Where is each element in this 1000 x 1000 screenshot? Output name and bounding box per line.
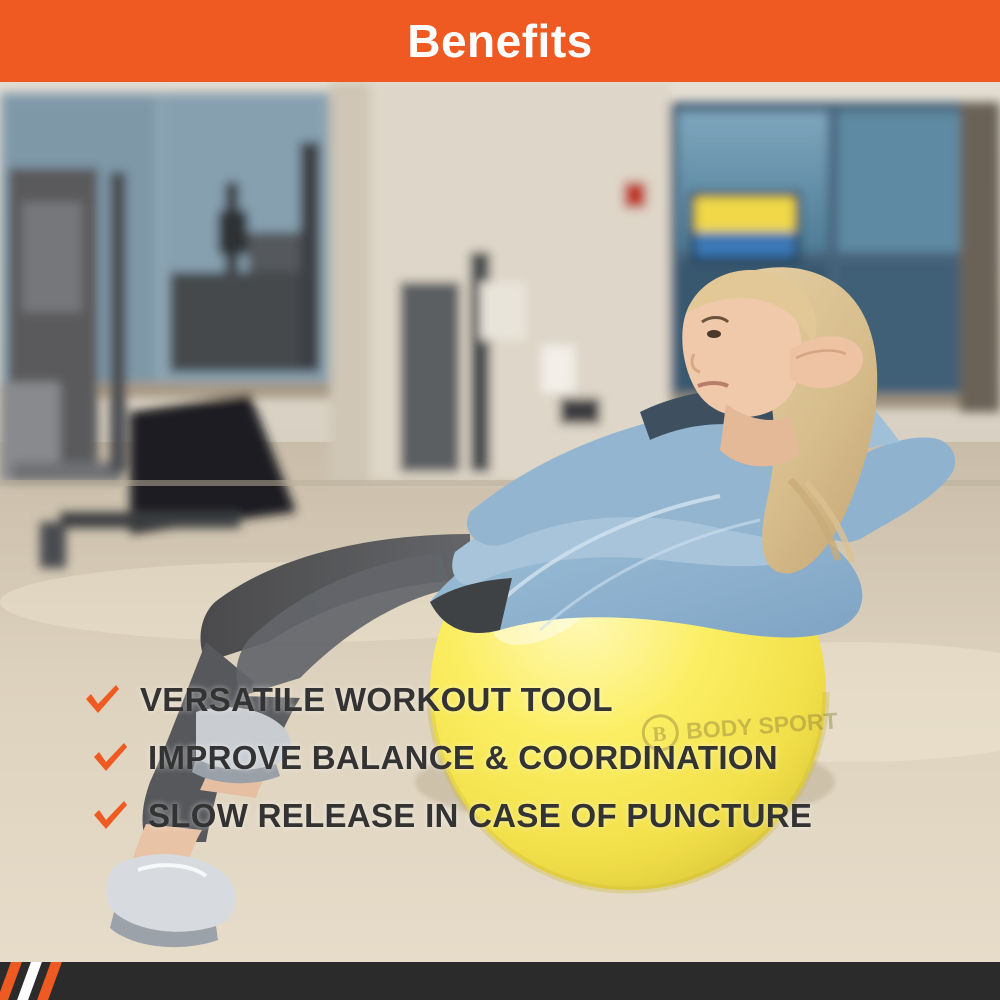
check-icon	[82, 680, 122, 720]
benefit-item-puncture: SLOW RELEASE IN CASE OF PUNCTURE	[90, 796, 1000, 836]
page-title: Benefits	[407, 18, 592, 64]
benefit-label: SLOW RELEASE IN CASE OF PUNCTURE	[148, 797, 812, 835]
benefit-item-versatile: VERSATILE WORKOUT TOOL	[82, 680, 1000, 720]
check-icon	[90, 796, 130, 836]
footer-bar	[0, 962, 1000, 1000]
benefit-item-balance: IMPROVE BALANCE & COORDINATION	[90, 738, 1000, 778]
benefit-label: IMPROVE BALANCE & COORDINATION	[148, 739, 778, 777]
benefit-label: VERSATILE WORKOUT TOOL	[140, 681, 613, 719]
check-icon	[90, 738, 130, 778]
stripe-accent	[0, 962, 120, 1000]
header-bar: Benefits	[0, 0, 1000, 82]
benefits-list: VERSATILE WORKOUT TOOL IMPROVE BALANCE &…	[0, 680, 1000, 854]
